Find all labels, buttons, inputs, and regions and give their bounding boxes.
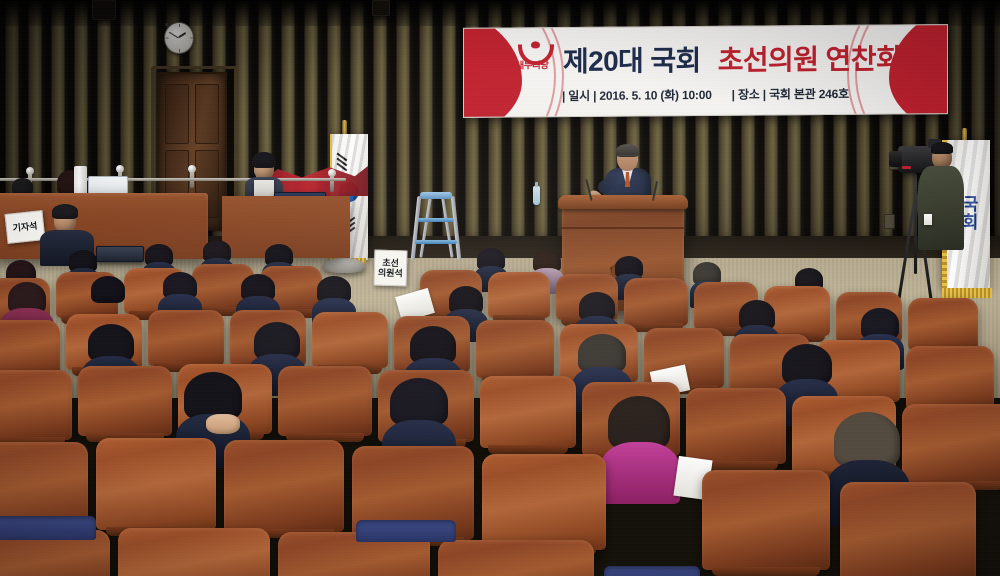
clasped-hands <box>206 414 240 434</box>
auditorium-seat[interactable] <box>686 388 786 464</box>
seat-cushion <box>604 566 700 576</box>
auditorium-seat[interactable] <box>902 404 1000 484</box>
attendee-body <box>600 442 680 504</box>
auditorium-seat[interactable] <box>96 438 216 530</box>
step-ladder-icon <box>408 196 464 260</box>
banner-place-value: 국회 본관 246호 <box>769 84 849 102</box>
auditorium-seat[interactable] <box>438 540 594 576</box>
party-logo-label: 새누리당 <box>510 61 554 71</box>
first-term-seat-sign: 초선 의원석 <box>374 250 408 287</box>
auditorium-seat[interactable] <box>480 376 576 448</box>
camera-operator <box>918 140 964 250</box>
laptop-icon <box>96 246 144 262</box>
banner-date-value: 2016. 5. 10 (화) 10:00 <box>599 85 711 103</box>
flag-fringe-bottom <box>942 288 992 298</box>
operator-hair <box>931 142 953 154</box>
auditorium-seat[interactable] <box>482 454 606 550</box>
camera-tally-light <box>902 166 911 169</box>
seat-cushion <box>356 520 456 542</box>
technician-hair <box>252 152 276 168</box>
seat-cushion <box>0 516 96 540</box>
auditorium-seat[interactable] <box>224 440 344 532</box>
seat-sign-line2: 의원석 <box>378 268 403 279</box>
press-badge <box>924 214 932 225</box>
auditorium-seat[interactable] <box>278 366 372 436</box>
camera-lens-icon <box>889 151 902 167</box>
banner-date-label: | 일시 | <box>562 86 596 103</box>
banner-place-label: | 장소 | <box>732 85 766 102</box>
photograph-scene: 새누리당 제20대 국회 초선의원 연찬회 | 일시 | 2016. 5. 10… <box>0 0 1000 576</box>
auditorium-seat[interactable] <box>624 278 688 326</box>
auditorium-seat[interactable] <box>488 272 550 318</box>
auditorium-seat[interactable] <box>476 320 554 378</box>
journalist-hair <box>52 204 78 219</box>
auditorium-seat[interactable] <box>312 312 388 368</box>
banner-title-red: 초선의원 연찬회 <box>718 44 901 75</box>
attendee-hair <box>390 378 448 426</box>
attendee-magenta-jacket <box>600 396 680 500</box>
event-banner: 새누리당 제20대 국회 초선의원 연찬회 | 일시 | 2016. 5. 10… <box>463 24 948 118</box>
auditorium-seat[interactable] <box>78 366 172 436</box>
auditorium-seat[interactable] <box>906 346 994 410</box>
auditorium-seat[interactable] <box>148 310 224 366</box>
water-bottle-icon <box>533 186 540 205</box>
banner-title-dark: 제20대 국회 <box>563 46 701 77</box>
auditorium-seat[interactable] <box>0 320 60 376</box>
press-seat-sign-label: 기자석 <box>12 221 38 234</box>
auditorium-seat[interactable] <box>908 298 978 350</box>
attendee-hair <box>184 372 242 420</box>
auditorium-seat[interactable] <box>840 482 976 576</box>
auditorium-seat[interactable] <box>702 470 830 570</box>
seat-sign-line1: 초선 <box>378 257 403 268</box>
banner-date: | 일시 | 2016. 5. 10 (화) 10:00 <box>562 85 712 103</box>
banner-place: | 장소 | 국회 본관 246호 <box>732 84 849 102</box>
paper-cup-stack-icon <box>74 166 87 196</box>
operator-body <box>918 166 964 250</box>
rail-post <box>330 174 334 192</box>
auditorium-seat[interactable] <box>118 528 270 576</box>
auditorium-seat[interactable] <box>0 370 72 440</box>
saenuri-party-logo-icon: 새누리당 <box>510 44 554 80</box>
flag-stand-base <box>322 258 366 273</box>
tripod-icon <box>914 174 917 274</box>
